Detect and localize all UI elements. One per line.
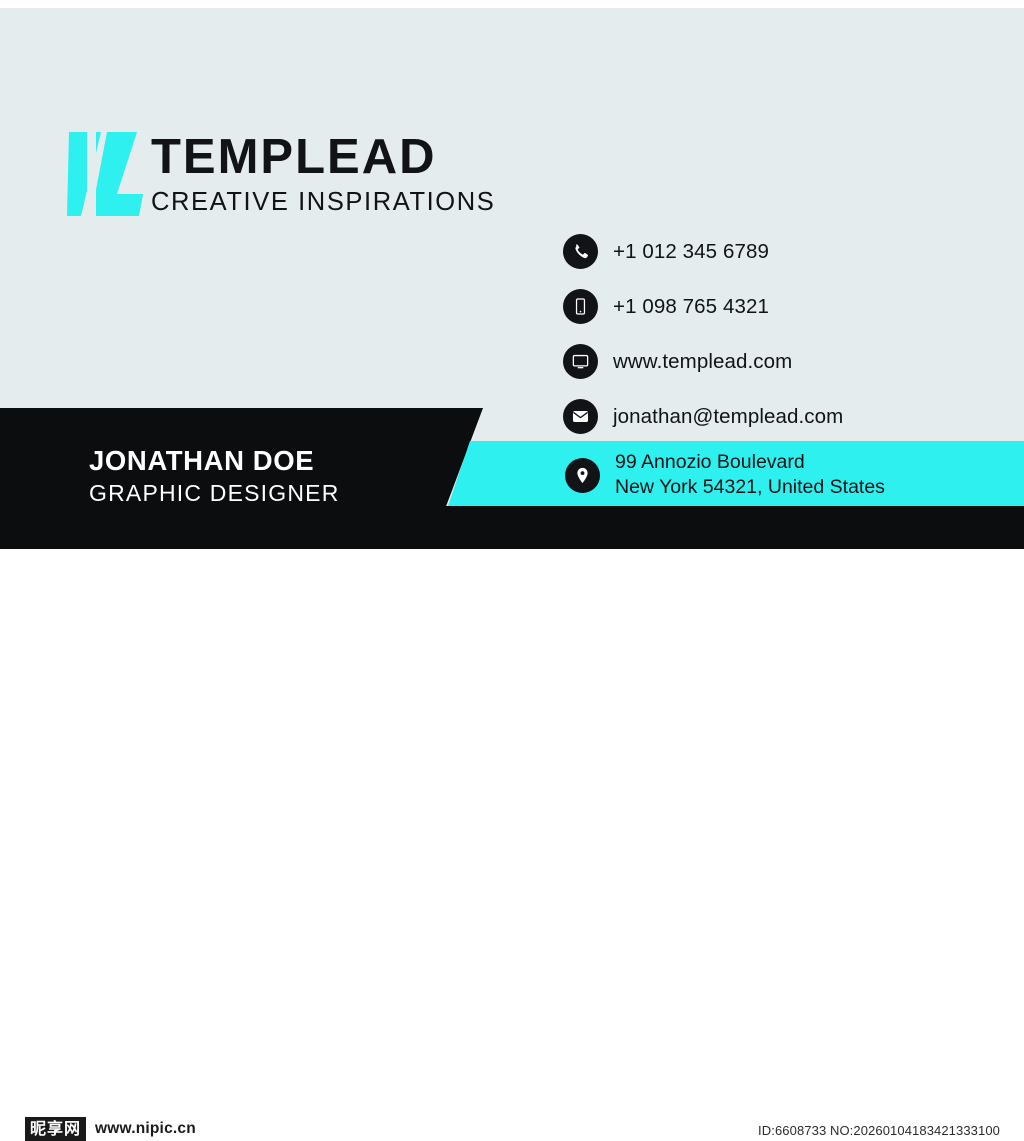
address-line-1: 99 Annozio Boulevard <box>615 451 805 473</box>
address-text: 99 Annozio Boulevard New York 54321, Uni… <box>615 450 885 500</box>
banner-dark-bottom <box>0 506 1024 549</box>
brand-name: TEMPLEAD <box>151 129 551 185</box>
business-card: TEMPLEAD CREATIVE INSPIRATIONS +1 012 34… <box>0 0 1024 614</box>
phone-icon <box>563 234 598 269</box>
contact-row-mobile: +1 098 765 4321 <box>563 279 1003 334</box>
logo-lockup: TEMPLEAD CREATIVE INSPIRATIONS <box>67 130 487 222</box>
contact-row-phone: +1 012 345 6789 <box>563 224 1003 279</box>
card-bottom-banner: JONATHAN DOE GRAPHIC DESIGNER 99 Annozio… <box>0 408 1024 549</box>
person-block: JONATHAN DOE GRAPHIC DESIGNER <box>89 444 340 508</box>
location-pin-icon <box>565 458 600 493</box>
logo-text-block: TEMPLEAD CREATIVE INSPIRATIONS <box>151 129 551 217</box>
website-icon <box>563 344 598 379</box>
watermark-badge: 昵享网 <box>25 1117 86 1141</box>
brand-tagline: CREATIVE INSPIRATIONS <box>151 187 551 217</box>
person-name: JONATHAN DOE <box>89 444 340 477</box>
address-line-2: New York 54321, United States <box>615 476 885 498</box>
contact-value-website: www.templead.com <box>613 350 792 374</box>
contact-value-phone: +1 012 345 6789 <box>613 240 769 264</box>
mobile-icon <box>563 289 598 324</box>
watermark-url: www.nipic.cn <box>95 1120 196 1138</box>
contact-value-mobile: +1 098 765 4321 <box>613 295 769 319</box>
watermark-id: ID:6608733 NO:20260104183421333100 <box>758 1123 1000 1138</box>
person-role: GRAPHIC DESIGNER <box>89 478 340 508</box>
logo-mark-icon <box>67 130 145 218</box>
watermark-footer: 昵享网 www.nipic.cn ID:6608733 NO:202601041… <box>0 549 1024 614</box>
contact-row-website: www.templead.com <box>563 334 1003 389</box>
address-block: 99 Annozio Boulevard New York 54321, Uni… <box>565 450 885 500</box>
watermark-logo: 昵享网 www.nipic.cn <box>25 1117 196 1141</box>
